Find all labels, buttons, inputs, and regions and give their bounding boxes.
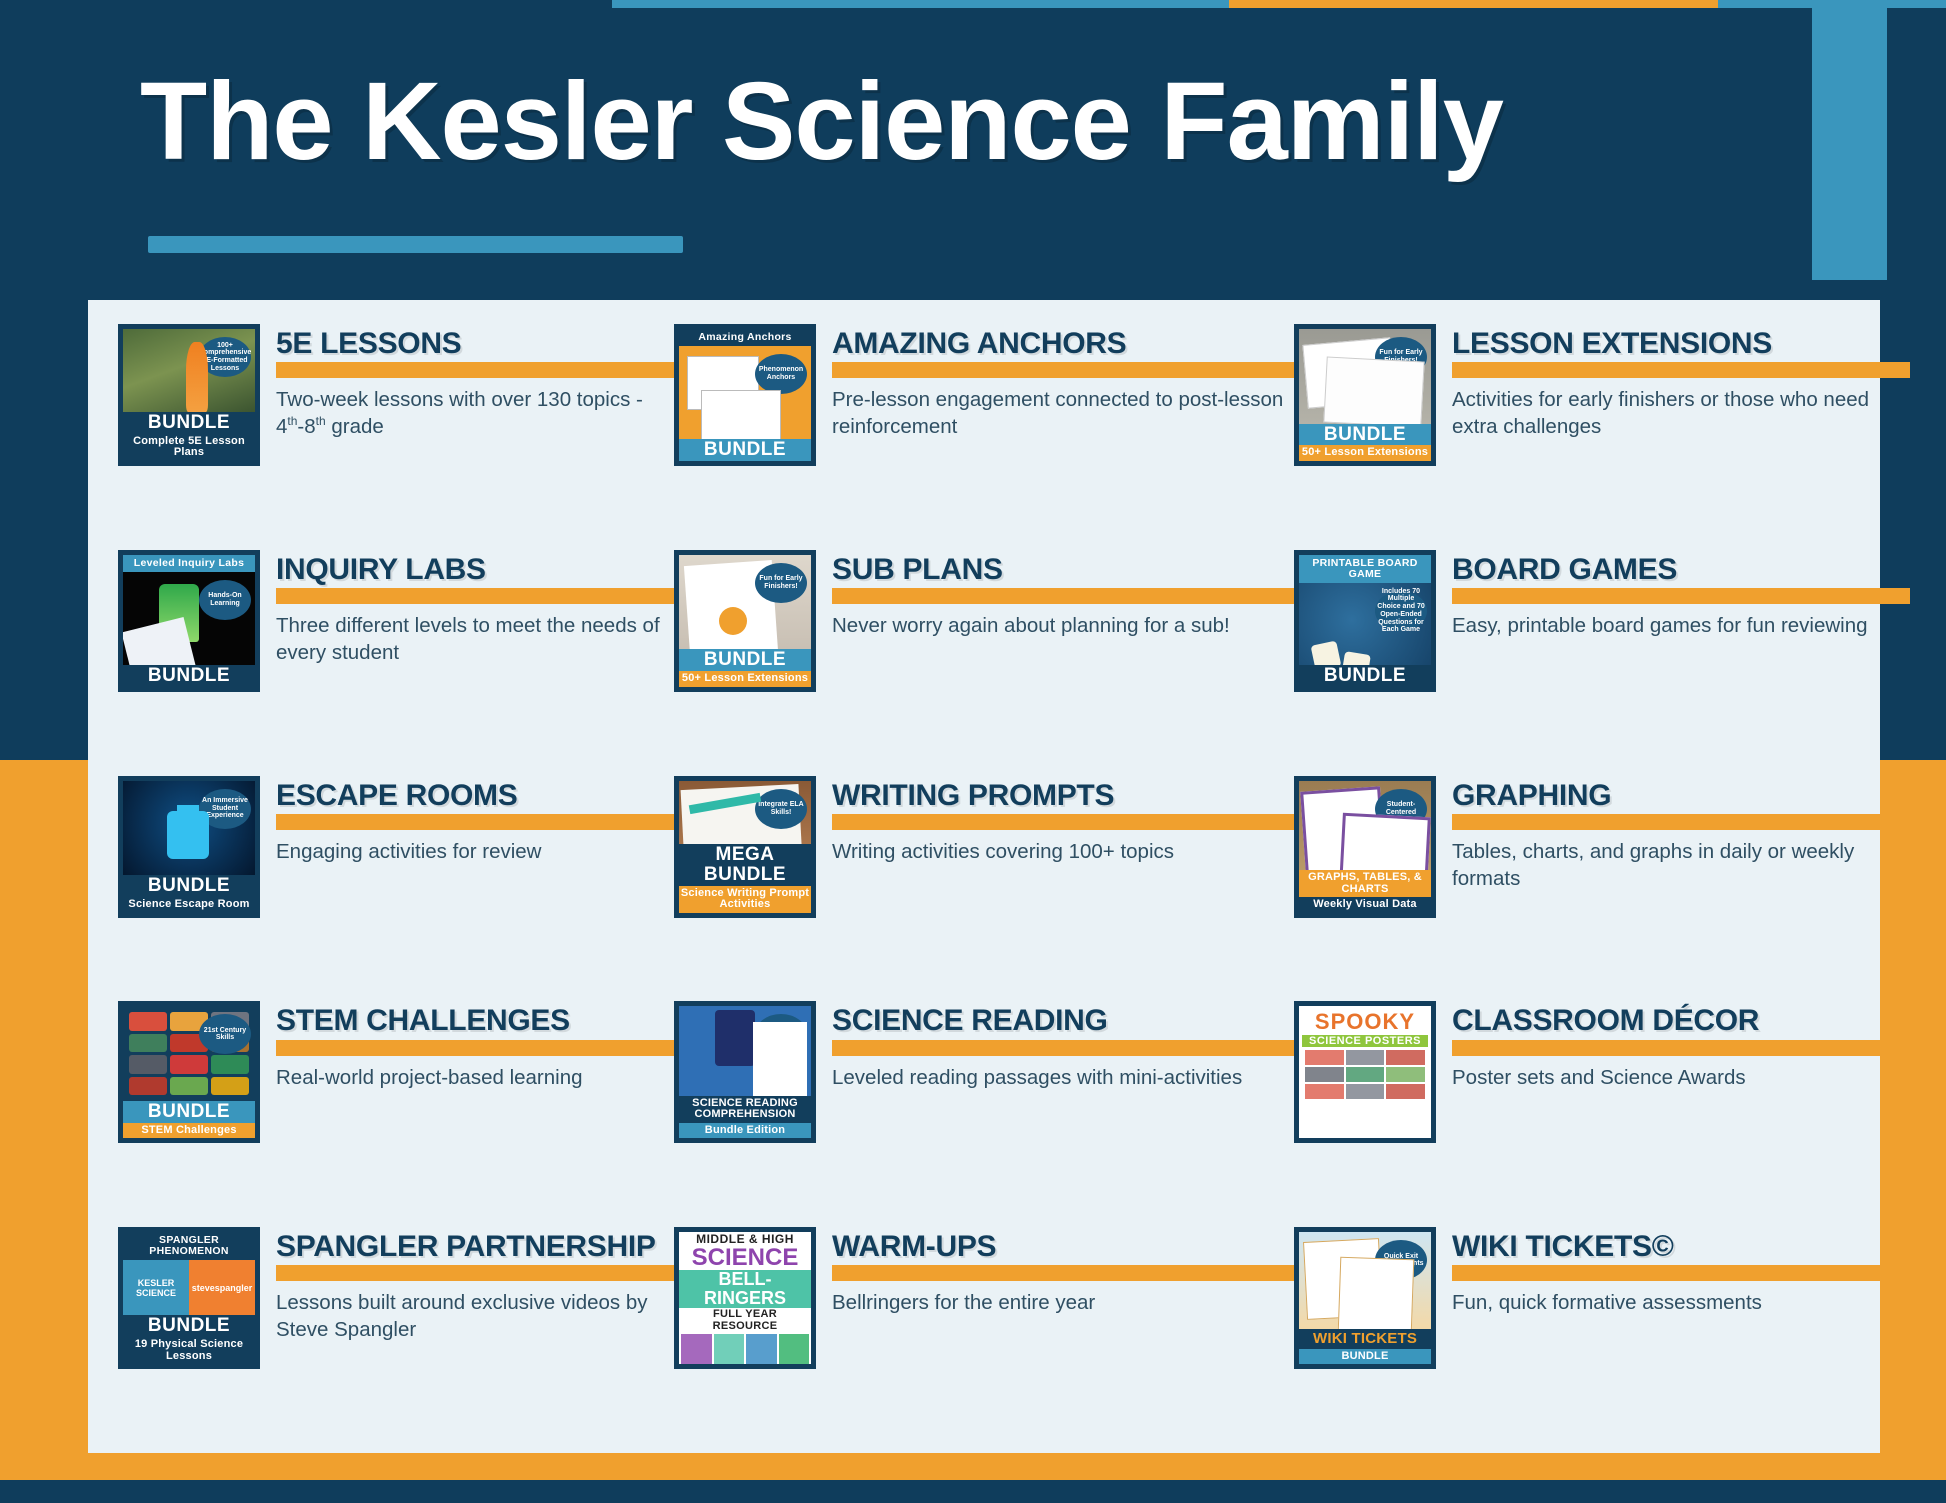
product-description: Leveled reading passages with mini-activ… bbox=[832, 1064, 1294, 1091]
product-card[interactable]: Amazing AnchorsPhenomenon AnchorsBUNDLEA… bbox=[674, 324, 1294, 550]
thumbnail-artwork: KESLER SCIENCEstevespangler bbox=[123, 1260, 255, 1315]
thumbnail-sub-caption: Complete 5E Lesson Plans bbox=[123, 434, 255, 461]
product-title: BOARD GAMES bbox=[1452, 554, 1910, 585]
product-body: CLASSROOM DÉCORPoster sets and Science A… bbox=[1452, 1001, 1910, 1090]
product-description: Never worry again about planning for a s… bbox=[832, 612, 1294, 639]
product-title: 5E LESSONS bbox=[276, 328, 674, 359]
thumbnail-badge: Fun for Early Finishers! bbox=[1375, 337, 1427, 377]
thumbnail-caption: BUNDLE bbox=[1299, 665, 1431, 687]
stem-icon bbox=[170, 1077, 208, 1095]
title-underline-bar bbox=[1452, 362, 1910, 378]
product-title: SUB PLANS bbox=[832, 554, 1294, 585]
product-thumbnail[interactable]: Fun for Early Finishers!BUNDLE50+ Lesson… bbox=[1294, 324, 1436, 466]
thumbnail-artwork: Student-Centered bbox=[1299, 781, 1431, 870]
thumbnail-artwork: SPOOKYSCIENCE POSTERS bbox=[1299, 1006, 1431, 1138]
product-card[interactable]: PRINTABLE BOARD GAMEIncludes 70 Multiple… bbox=[1294, 550, 1910, 776]
thumbnail-caption: SCIENCE READING COMPREHENSION bbox=[679, 1096, 811, 1123]
product-description: Pre-lesson engagement connected to post-… bbox=[832, 386, 1294, 440]
product-card[interactable]: 100+ Comprehensive 5E-Formatted LessonsB… bbox=[118, 324, 674, 550]
products-panel: 100+ Comprehensive 5E-Formatted LessonsB… bbox=[88, 300, 1880, 1453]
thumbnail-caption: BUNDLE bbox=[679, 649, 811, 671]
product-thumbnail[interactable]: PRINTABLE BOARD GAMEIncludes 70 Multiple… bbox=[1294, 550, 1436, 692]
poster-thumbnail-grid bbox=[1302, 1047, 1428, 1102]
thumbnail-badge: Phenomenon Anchors bbox=[755, 354, 807, 394]
product-thumbnail[interactable]: Fun for Early Finishers!BUNDLE50+ Lesson… bbox=[674, 550, 816, 692]
product-title: SCIENCE READING bbox=[832, 1005, 1294, 1036]
product-title: GRAPHING bbox=[1452, 780, 1910, 811]
thumbnail-top-caption: SPANGLER PHENOMENON bbox=[123, 1232, 255, 1260]
warmup-tile bbox=[714, 1334, 745, 1364]
product-body: ESCAPE ROOMSEngaging activities for revi… bbox=[276, 776, 674, 865]
product-thumbnail[interactable]: 40 Leveled Articles and ProjectsSCIENCE … bbox=[674, 1001, 816, 1143]
thumbnail-badge: 40 Leveled Articles and Projects bbox=[755, 1014, 807, 1054]
product-description: Real-world project-based learning bbox=[276, 1064, 674, 1091]
thumbnail-sub-caption: 50+ Lesson Extensions bbox=[679, 671, 811, 687]
poster-tile bbox=[1386, 1050, 1425, 1065]
thumbnail-badge: Integrate ELA Skills! bbox=[755, 789, 807, 829]
product-body: BOARD GAMESEasy, printable board games f… bbox=[1452, 550, 1910, 639]
product-body: STEM CHALLENGESReal-world project-based … bbox=[276, 1001, 674, 1090]
product-body: SUB PLANSNever worry again about plannin… bbox=[832, 550, 1294, 639]
thumbnail-badge: An Immersive Student Experience bbox=[199, 789, 251, 829]
stem-icon bbox=[170, 1055, 208, 1073]
thumbnail-artwork: Includes 70 Multiple Choice and 70 Open-… bbox=[1299, 583, 1431, 665]
thumbnail-sub-caption: Bundle Edition bbox=[679, 1123, 811, 1139]
thumbnail-badge: Fun for Early Finishers! bbox=[755, 563, 807, 603]
product-card[interactable]: Leveled Inquiry LabsHands-On LearningBUN… bbox=[118, 550, 674, 776]
thumbnail-sub-caption: BUNDLE bbox=[1299, 1349, 1431, 1365]
thumbnail-badge: Student-Centered bbox=[1375, 789, 1427, 829]
product-card[interactable]: Integrate ELA Skills!MEGA BUNDLEScience … bbox=[674, 776, 1294, 1002]
product-thumbnail[interactable]: 21st Century SkillsBUNDLESTEM Challenges bbox=[118, 1001, 260, 1143]
title-underline-rule bbox=[148, 236, 683, 253]
stem-icon bbox=[129, 1012, 167, 1030]
thumbnail-artwork: 100+ Comprehensive 5E-Formatted Lessons bbox=[123, 329, 255, 412]
product-card[interactable]: 21st Century SkillsBUNDLESTEM Challenges… bbox=[118, 1001, 674, 1227]
product-body: INQUIRY LABSThree different levels to me… bbox=[276, 550, 674, 666]
thumbnail-artwork: Hands-On Learning bbox=[123, 572, 255, 665]
thumbnail-top-caption: Leveled Inquiry Labs bbox=[123, 555, 255, 572]
poster-subtitle: SCIENCE POSTERS bbox=[1302, 1035, 1428, 1047]
warmup-tile-row bbox=[679, 1332, 811, 1364]
product-body: SPANGLER PARTNERSHIPLessons built around… bbox=[276, 1227, 674, 1343]
product-description: Activities for early finishers or those … bbox=[1452, 386, 1910, 440]
stem-icon bbox=[211, 1055, 249, 1073]
thumbnail-artwork: Fun for Early Finishers! bbox=[1299, 329, 1431, 424]
steve-spangler-logo: stevespangler bbox=[189, 1260, 255, 1315]
product-body: LESSON EXTENSIONSActivities for early fi… bbox=[1452, 324, 1910, 440]
product-thumbnail[interactable]: Student-CenteredGRAPHS, TABLES, & CHARTS… bbox=[1294, 776, 1436, 918]
thumbnail-sub-caption: 50+ Lesson Extensions bbox=[1299, 445, 1431, 461]
poster-tile bbox=[1305, 1084, 1344, 1099]
warmup-tile bbox=[681, 1334, 712, 1364]
product-body: SCIENCE READINGLeveled reading passages … bbox=[832, 1001, 1294, 1090]
product-title: LESSON EXTENSIONS bbox=[1452, 328, 1910, 359]
product-description: Fun, quick formative assessments bbox=[1452, 1289, 1910, 1316]
product-title: CLASSROOM DÉCOR bbox=[1452, 1005, 1910, 1036]
thumbnail-artwork: 21st Century Skills bbox=[123, 1006, 255, 1101]
bottom-navy-strip bbox=[0, 1480, 1946, 1503]
thumbnail-artwork: Phenomenon Anchors bbox=[679, 346, 811, 439]
stem-icon bbox=[129, 1077, 167, 1095]
product-body: 5E LESSONSTwo-week lessons with over 130… bbox=[276, 324, 674, 440]
warmup-cover-line4: FULL YEAR RESOURCE bbox=[679, 1308, 811, 1332]
product-card[interactable]: Student-CenteredGRAPHS, TABLES, & CHARTS… bbox=[1294, 776, 1910, 1002]
product-title: WARM-UPS bbox=[832, 1231, 1294, 1262]
product-description: Three different levels to meet the needs… bbox=[276, 612, 674, 666]
stem-icon bbox=[129, 1034, 167, 1052]
product-card[interactable]: MIDDLE & HIGHSCIENCEBELL-RINGERSFULL YEA… bbox=[674, 1227, 1294, 1453]
thumbnail-caption: BUNDLE bbox=[1299, 424, 1431, 446]
title-underline-bar bbox=[1452, 814, 1910, 830]
thumbnail-sub-caption: STEM Challenges bbox=[123, 1123, 255, 1139]
page-title: The Kesler Science Family bbox=[140, 58, 1503, 185]
product-description: Easy, printable board games for fun revi… bbox=[1452, 612, 1910, 639]
product-description: Bellringers for the entire year bbox=[832, 1289, 1294, 1316]
product-description: Engaging activities for review bbox=[276, 838, 674, 865]
product-card[interactable]: SPANGLER PHENOMENONKESLER SCIENCEstevesp… bbox=[118, 1227, 674, 1453]
spangler-logo-band: KESLER SCIENCEstevespangler bbox=[123, 1260, 255, 1315]
kesler-science-logo: KESLER SCIENCE bbox=[123, 1260, 189, 1315]
stem-icon bbox=[129, 1055, 167, 1073]
warmup-cover-line2: SCIENCE bbox=[679, 1246, 811, 1270]
poster-tile bbox=[1346, 1050, 1385, 1065]
product-thumbnail[interactable]: MIDDLE & HIGHSCIENCEBELL-RINGERSFULL YEA… bbox=[674, 1227, 816, 1369]
product-title: INQUIRY LABS bbox=[276, 554, 674, 585]
product-thumbnail[interactable]: Integrate ELA Skills!MEGA BUNDLEScience … bbox=[674, 776, 816, 918]
product-description: Tables, charts, and graphs in daily or w… bbox=[1452, 838, 1910, 892]
warmup-tile bbox=[746, 1334, 777, 1364]
thumbnail-top-caption: PRINTABLE BOARD GAME bbox=[1299, 555, 1431, 583]
product-thumbnail[interactable]: SPOOKYSCIENCE POSTERS bbox=[1294, 1001, 1436, 1143]
product-grid: 100+ Comprehensive 5E-Formatted LessonsB… bbox=[88, 300, 1880, 1453]
thumbnail-sub-caption: 19 Physical Science Lessons bbox=[123, 1337, 255, 1364]
thumbnail-caption: BUNDLE bbox=[123, 412, 255, 434]
poster-tile bbox=[1346, 1067, 1385, 1082]
thumbnail-artwork: MIDDLE & HIGHSCIENCEBELL-RINGERSFULL YEA… bbox=[679, 1232, 811, 1364]
product-title: AMAZING ANCHORS bbox=[832, 328, 1294, 359]
product-thumbnail[interactable]: Amazing AnchorsPhenomenon AnchorsBUNDLE bbox=[674, 324, 816, 466]
thumbnail-artwork: Integrate ELA Skills! bbox=[679, 781, 811, 844]
product-body: WIKI TICKETS©Fun, quick formative assess… bbox=[1452, 1227, 1910, 1316]
title-underline-bar bbox=[276, 588, 674, 604]
product-card[interactable]: An Immersive Student ExperienceBUNDLESci… bbox=[118, 776, 674, 1002]
title-underline-bar bbox=[1452, 1040, 1910, 1056]
title-underline-bar bbox=[832, 362, 1294, 378]
thumbnail-caption: MEGA BUNDLE bbox=[679, 844, 811, 886]
product-title: ESCAPE ROOMS bbox=[276, 780, 674, 811]
title-underline-bar bbox=[1452, 1265, 1910, 1281]
product-title: SPANGLER PARTNERSHIP bbox=[276, 1231, 674, 1262]
product-title: WRITING PROMPTS bbox=[832, 780, 1294, 811]
title-underline-bar bbox=[832, 1040, 1294, 1056]
thumbnail-artwork: An Immersive Student Experience bbox=[123, 781, 255, 876]
thumbnail-caption: WIKI TICKETS bbox=[1299, 1329, 1431, 1349]
warmup-cover-line3: BELL-RINGERS bbox=[679, 1270, 811, 1308]
thumbnail-sub-caption: Weekly Visual Data bbox=[1299, 897, 1431, 913]
product-title: WIKI TICKETS© bbox=[1452, 1231, 1910, 1262]
title-underline-bar bbox=[832, 1265, 1294, 1281]
title-underline-bar bbox=[832, 814, 1294, 830]
product-description: Writing activities covering 100+ topics bbox=[832, 838, 1294, 865]
product-card[interactable]: Quick Exit AssessmentsWIKI TICKETSBUNDLE… bbox=[1294, 1227, 1910, 1453]
title-underline-bar bbox=[832, 588, 1294, 604]
poster-tile bbox=[1386, 1067, 1425, 1082]
thumbnail-artwork: 40 Leveled Articles and Projects bbox=[679, 1006, 811, 1095]
thumbnail-sub-caption: Science Writing Prompt Activities bbox=[679, 886, 811, 913]
product-body: WRITING PROMPTSWriting activities coveri… bbox=[832, 776, 1294, 865]
thumbnail-badge: 100+ Comprehensive 5E-Formatted Lessons bbox=[199, 337, 251, 377]
product-body: GRAPHINGTables, charts, and graphs in da… bbox=[1452, 776, 1910, 892]
thumbnail-top-caption: Amazing Anchors bbox=[679, 329, 811, 346]
header: The Kesler Science Family bbox=[0, 0, 1812, 300]
thumbnail-badge: Quick Exit Assessments bbox=[1375, 1240, 1427, 1280]
title-underline-bar bbox=[1452, 588, 1910, 604]
poster-tile bbox=[1305, 1050, 1344, 1065]
product-thumbnail[interactable]: SPANGLER PHENOMENONKESLER SCIENCEstevesp… bbox=[118, 1227, 260, 1369]
thumbnail-artwork: Quick Exit Assessments bbox=[1299, 1232, 1431, 1329]
product-thumbnail[interactable]: Leveled Inquiry LabsHands-On LearningBUN… bbox=[118, 550, 260, 692]
thumbnail-caption: BUNDLE bbox=[123, 875, 255, 897]
poster-tile bbox=[1305, 1067, 1344, 1082]
thumbnail-sub-caption: Science Escape Room bbox=[123, 897, 255, 913]
thumbnail-caption: BUNDLE bbox=[123, 1315, 255, 1337]
thumbnail-badge: Hands-On Learning bbox=[199, 580, 251, 620]
poster-title: SPOOKY bbox=[1302, 1009, 1428, 1035]
thumbnail-caption: BUNDLE bbox=[679, 439, 811, 461]
product-card[interactable]: SPOOKYSCIENCE POSTERSCLASSROOM DÉCORPost… bbox=[1294, 1001, 1910, 1227]
thumbnail-artwork: Fun for Early Finishers! bbox=[679, 555, 811, 650]
warmup-tile bbox=[779, 1334, 810, 1364]
product-description: Two-week lessons with over 130 topics - … bbox=[276, 386, 674, 440]
title-underline-bar bbox=[276, 1265, 674, 1281]
product-thumbnail[interactable]: An Immersive Student ExperienceBUNDLESci… bbox=[118, 776, 260, 918]
product-thumbnail[interactable]: Quick Exit AssessmentsWIKI TICKETSBUNDLE bbox=[1294, 1227, 1436, 1369]
thumbnail-caption: GRAPHS, TABLES, & CHARTS bbox=[1299, 870, 1431, 897]
title-underline-bar bbox=[276, 814, 674, 830]
product-thumbnail[interactable]: 100+ Comprehensive 5E-Formatted LessonsB… bbox=[118, 324, 260, 466]
product-description: Lessons built around exclusive videos by… bbox=[276, 1289, 674, 1343]
thumbnail-caption: BUNDLE bbox=[123, 1101, 255, 1123]
product-card[interactable]: 40 Leveled Articles and ProjectsSCIENCE … bbox=[674, 1001, 1294, 1227]
thumbnail-caption: BUNDLE bbox=[123, 665, 255, 687]
product-title: STEM CHALLENGES bbox=[276, 1005, 674, 1036]
poster-tile bbox=[1386, 1084, 1425, 1099]
background-teal-accent bbox=[1812, 0, 1887, 280]
product-card[interactable]: Fun for Early Finishers!BUNDLE50+ Lesson… bbox=[1294, 324, 1910, 550]
product-body: AMAZING ANCHORSPre-lesson engagement con… bbox=[832, 324, 1294, 440]
stem-icon bbox=[211, 1077, 249, 1095]
thumbnail-badge: Includes 70 Multiple Choice and 70 Open-… bbox=[1375, 591, 1427, 631]
title-underline-bar bbox=[276, 362, 674, 378]
poster-tile bbox=[1346, 1084, 1385, 1099]
product-card[interactable]: Fun for Early Finishers!BUNDLE50+ Lesson… bbox=[674, 550, 1294, 776]
product-body: WARM-UPSBellringers for the entire year bbox=[832, 1227, 1294, 1316]
title-underline-bar bbox=[276, 1040, 674, 1056]
product-description: Poster sets and Science Awards bbox=[1452, 1064, 1910, 1091]
